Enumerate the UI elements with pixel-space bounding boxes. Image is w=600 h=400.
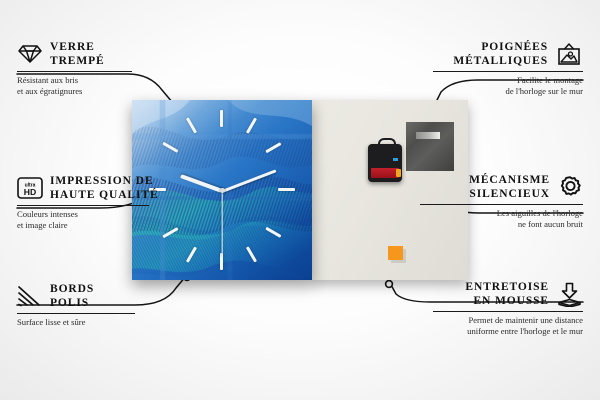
feature-title: IMPRESSION DE — [50, 174, 159, 188]
metal-hanger-plate — [406, 122, 454, 171]
feature-entretoise-en-mousse[interactable]: ENTRETOISE EN MOUSSE Permet de maintenir… — [433, 280, 583, 336]
movement-label — [393, 158, 398, 161]
foam-spacer — [388, 246, 403, 260]
feature-title: ENTRETOISE — [465, 280, 549, 294]
hour-tick — [220, 110, 223, 127]
divider-rule — [433, 311, 583, 312]
feature-title: MÉCANISME — [469, 173, 550, 187]
feature-title: POIGNÉES — [453, 40, 548, 54]
svg-text:HD: HD — [24, 187, 36, 197]
feature-title: VERRE — [50, 40, 105, 54]
hands-hub — [220, 188, 225, 193]
battery — [371, 168, 399, 178]
feature-title: BORDS — [50, 282, 94, 296]
feature-subtitle: ne font aucun bruit — [420, 219, 583, 230]
feature-subtitle: Permet de maintenir une distance — [433, 315, 583, 326]
feature-subtitle: Surface lisse et sûre — [17, 317, 167, 328]
hanger-slot — [416, 132, 440, 139]
node-entretoise — [386, 281, 393, 288]
feature-impression-haute-qualite[interactable]: ultra HD IMPRESSION DE HAUTE QUALITÉ Cou… — [17, 174, 192, 230]
diamond-icon — [17, 44, 43, 64]
feature-title: EN MOUSSE — [465, 294, 549, 308]
divider-rule — [17, 71, 132, 72]
ultra-hd-icon: ultra HD — [17, 177, 43, 199]
feature-bords-polis[interactable]: BORDS POLIS Surface lisse et sûre — [17, 282, 167, 328]
feature-title: HAUTE QUALITÉ — [50, 188, 159, 202]
feature-title: MÉTALLIQUES — [453, 54, 548, 68]
divider-rule — [17, 205, 149, 206]
feature-subtitle: et aux égratignures — [17, 86, 167, 97]
feature-subtitle: Couleurs intenses — [17, 209, 192, 220]
infographic-canvas: VERRE TREMPÉ Résistant aux bris et aux é… — [0, 0, 600, 400]
feature-title: SILENCIEUX — [469, 187, 550, 201]
feature-poignees-metalliques[interactable]: POIGNÉES MÉTALLIQUES Facilite le montage… — [433, 40, 583, 96]
gear-icon — [557, 175, 583, 199]
feature-title: POLIS — [50, 296, 94, 310]
hanger-loop — [378, 138, 396, 149]
feature-subtitle: de l'horloge sur le mur — [433, 86, 583, 97]
quartz-movement — [368, 144, 402, 182]
divider-rule — [433, 71, 583, 72]
feature-subtitle: uniforme entre l'horloge et le mur — [433, 326, 583, 337]
divider-rule — [17, 313, 135, 314]
feature-mecanisme-silencieux[interactable]: MÉCANISME SILENCIEUX Les aiguilles de l'… — [420, 173, 583, 229]
feature-subtitle: et image claire — [17, 220, 192, 231]
divider-rule — [420, 204, 583, 205]
feature-title: TREMPÉ — [50, 54, 105, 68]
foam-spacer-icon — [556, 282, 583, 307]
feature-subtitle: Facilite le montage — [433, 75, 583, 86]
picture-hanger-icon — [555, 43, 583, 66]
feature-subtitle: Résistant aux bris — [17, 75, 167, 86]
polished-edge-icon — [17, 285, 43, 307]
hour-tick — [278, 188, 295, 191]
feature-subtitle: Les aiguilles de l'horloge — [420, 208, 583, 219]
second-hand — [221, 191, 222, 257]
feature-verre-trempe[interactable]: VERRE TREMPÉ Résistant aux bris et aux é… — [17, 40, 167, 96]
